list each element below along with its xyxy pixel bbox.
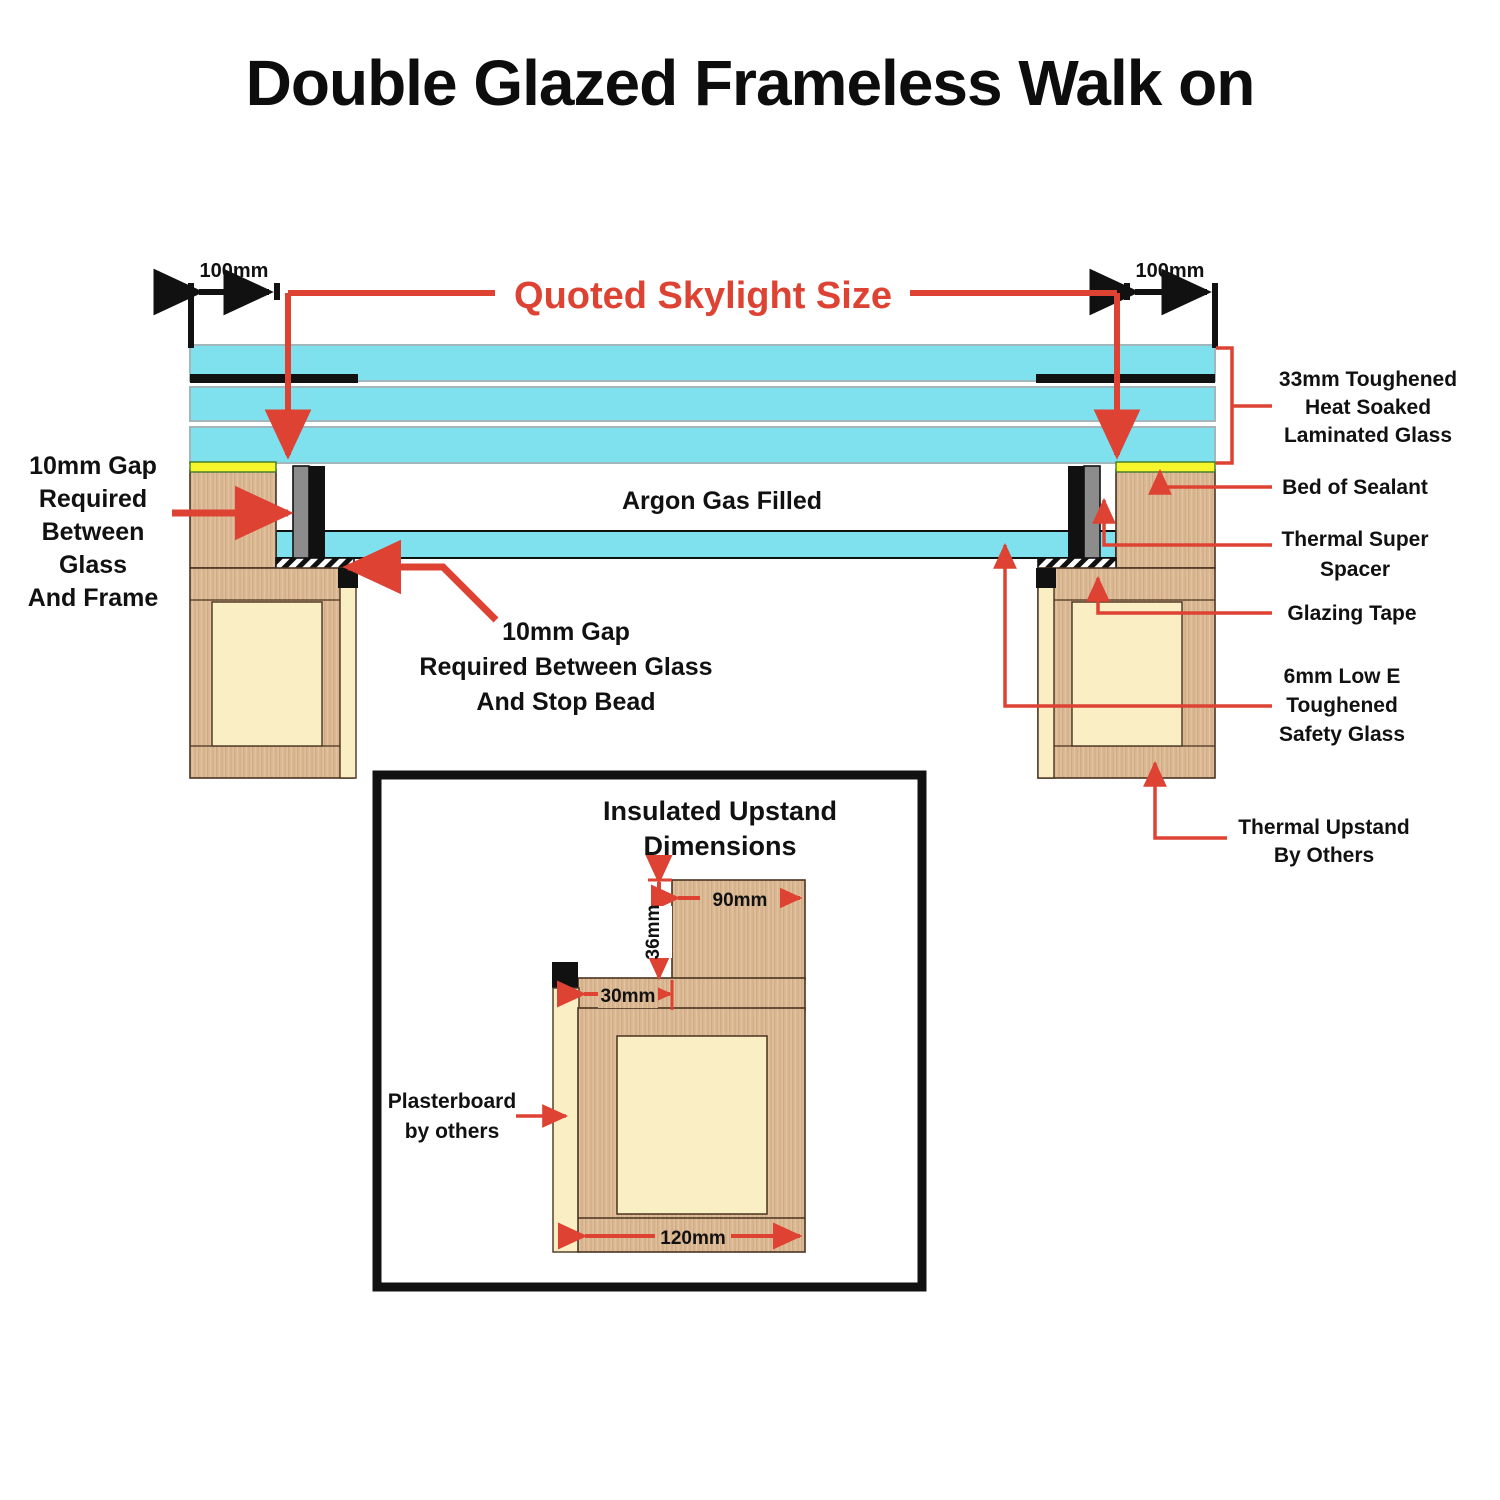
left-insulation-core <box>212 602 322 746</box>
left-spacer-black <box>309 466 325 570</box>
glass-layer-middle <box>190 387 1215 421</box>
quoted-skylight-size-label: Quoted Skylight Size <box>514 275 892 317</box>
right-insulation-core <box>1072 602 1182 746</box>
dim-36mm-label: 36mm <box>643 905 664 960</box>
dim-90mm-label: 90mm <box>713 890 768 911</box>
left-bed-of-sealant <box>190 462 276 472</box>
right-plasterboard <box>1038 585 1054 778</box>
laminated-glass-line-2: Laminated Glass <box>1284 424 1452 447</box>
plasterboard-line-0: Plasterboard <box>388 1090 516 1113</box>
right-bed-of-sealant <box>1116 462 1215 472</box>
low-e-glass-pane <box>276 531 1116 558</box>
thermal-super-spacer-line-1: Spacer <box>1320 558 1390 581</box>
left-dimension-label: 100mm <box>200 260 269 282</box>
left-plasterboard <box>340 585 356 778</box>
interlayer-bar-left <box>190 374 358 383</box>
dim-120mm-label: 120mm <box>660 1228 726 1249</box>
dim-30mm-label: 30mm <box>601 986 656 1007</box>
left-stop-bead <box>338 568 358 588</box>
inset-title-line-0: Insulated Upstand <box>603 796 837 826</box>
left-thermal-super-spacer <box>293 466 309 570</box>
right-spacer-black <box>1068 466 1084 570</box>
laminated-glass-line-0: 33mm Toughened <box>1279 368 1457 391</box>
thermal-upstand-line-0: Thermal Upstand <box>1238 816 1410 839</box>
center-callout-line-2: And Stop Bead <box>476 688 655 716</box>
laminated-glass-line-1: Heat Soaked <box>1305 396 1431 419</box>
left-callout-line-3: Glass <box>59 551 127 579</box>
thermal-super-spacer-line-0: Thermal Super <box>1281 528 1428 551</box>
insulated-upstand-inset: Insulated Upstand Dimensions 90mm 36mm <box>377 775 922 1287</box>
left-callout-line-0: 10mm Gap <box>29 452 157 480</box>
right-dimension-label: 100mm <box>1136 260 1205 282</box>
left-upper-upstand-timber <box>190 470 276 568</box>
left-callout-line-1: Required <box>39 485 147 513</box>
interlayer-bar-right <box>1036 374 1215 383</box>
plasterboard-line-1: by others <box>405 1120 500 1143</box>
laminated-glass-stack <box>190 345 1215 463</box>
glass-layer-bottom <box>190 427 1215 463</box>
thermal-upstand-line-1: By Others <box>1274 844 1374 867</box>
low-e-line-0: 6mm Low E <box>1284 665 1401 688</box>
left-callout-line-2: Between <box>42 518 145 546</box>
center-callout-line-0: 10mm Gap <box>502 618 630 646</box>
right-thermal-super-spacer <box>1084 466 1100 570</box>
inset-stop-bead <box>552 962 578 988</box>
argon-gas-label: Argon Gas Filled <box>622 487 822 515</box>
right-upper-upstand-timber <box>1116 470 1215 568</box>
left-callout-line-4: And Frame <box>28 584 159 612</box>
diagram-canvas: Double Glazed Frameless Walk on <box>0 0 1500 1500</box>
page-title: Double Glazed Frameless Walk on <box>246 47 1255 119</box>
inset-title-line-1: Dimensions <box>643 831 796 861</box>
center-callout-line-1: Required Between Glass <box>419 653 712 681</box>
inset-insulation-core <box>617 1036 767 1214</box>
inset-plasterboard <box>553 988 579 1252</box>
right-stop-bead <box>1036 568 1056 588</box>
technical-drawing: Double Glazed Frameless Walk on <box>0 0 1500 1500</box>
low-e-line-1: Toughened <box>1286 694 1398 717</box>
low-e-line-2: Safety Glass <box>1279 723 1405 746</box>
glazing-tape-label: Glazing Tape <box>1287 602 1416 625</box>
bed-of-sealant-label: Bed of Sealant <box>1282 476 1428 499</box>
